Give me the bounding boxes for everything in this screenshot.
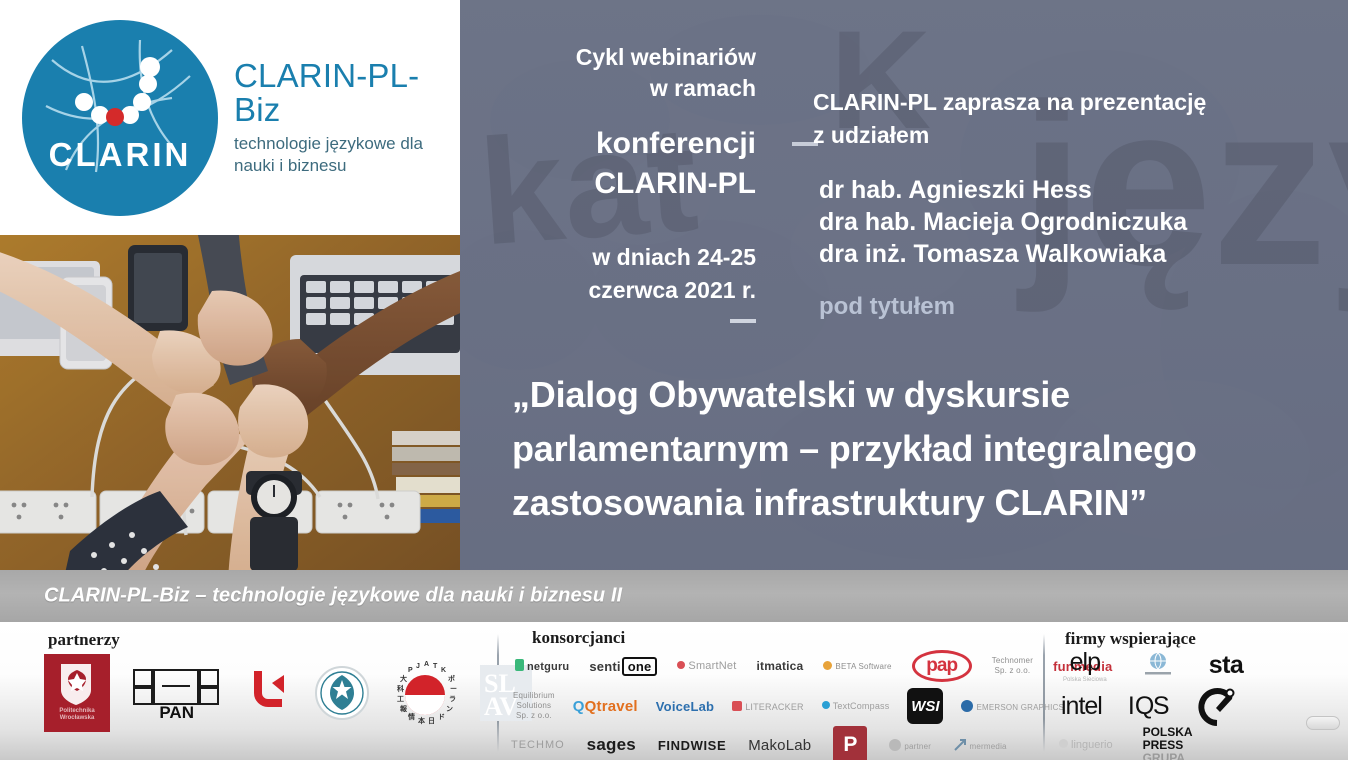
svg-text:科: 科	[397, 684, 404, 693]
slide-main-panel: kat K języK Cykl webinariów w ramach kon…	[460, 0, 1348, 570]
partners-group: partnerzy Politechnika Wrocławska	[0, 622, 497, 760]
divider-dash-bottom	[730, 319, 756, 323]
svg-text:J: J	[416, 663, 420, 670]
speakers-list: dr hab. Agnieszki Hess dra hab. Macieja …	[813, 174, 1313, 271]
conference-info-column: Cykl webinariów w ramach konferencji CLA…	[498, 42, 756, 323]
beta-software-logo: BETA Software	[823, 661, 891, 672]
svg-text:T: T	[433, 663, 438, 670]
technomer-logo: Technomer Sp. z o.o.	[992, 656, 1033, 676]
itmatica-logo: itmatica	[756, 659, 803, 673]
uniwersytet-wroclawski-logo	[314, 665, 370, 721]
ipi-pan-logo	[248, 667, 292, 719]
svg-text:K: K	[441, 667, 446, 674]
pjatk-logo: PJA TK ポーラ ンド日 本情報 工科大	[392, 659, 458, 727]
wsi-logo: WSI	[907, 688, 943, 724]
clarin-logo-block: CLARIN CLARIN-PL-Biz technologie językow…	[0, 0, 460, 235]
supporting-row-1: elp Polska Sieciowa sta	[1063, 648, 1243, 683]
partners-logos-row: Politechnika Wrocławska PAN	[44, 654, 532, 732]
p-logo: P	[833, 726, 867, 760]
sta-logo: sta	[1209, 651, 1244, 680]
speaker-name-1: dr hab. Agnieszki Hess	[819, 174, 1313, 206]
partners-heading: partnerzy	[48, 630, 120, 650]
video-control-pill[interactable]	[1306, 716, 1340, 730]
globe-logo	[1143, 651, 1173, 680]
supporting-companies-group: firmy wspierające elp Polska Sieciowa st…	[1045, 622, 1348, 760]
presentation-title-line2: parlamentarnym – przykład integralnego	[512, 422, 1312, 476]
makolab-logo: MakoLab	[748, 737, 811, 754]
consortium-row-1: netguru sentione SmartNet itmatica BETA …	[515, 650, 1112, 682]
svg-text:CLARIN: CLARIN	[49, 136, 192, 173]
logo-subtitle-line1: technologie językowe dla	[234, 133, 460, 155]
supporting-heading: firmy wspierające	[1065, 629, 1196, 649]
smartnet-logo: SmartNet	[677, 660, 736, 672]
techmo-logo: TECHMO	[511, 739, 565, 751]
voicelab-logo: VoiceLab	[656, 699, 714, 714]
qtravel-logo: QQtravel	[573, 698, 638, 715]
literacker-logo: LITERACKER	[732, 701, 804, 712]
supporting-row-3: linguerio POLSKA PRESS GRUPA	[1059, 726, 1193, 760]
consortium-group: konsorcjanci netguru sentione SmartNet i…	[499, 622, 1043, 760]
conference-dates-line2: czerwca 2021 r.	[498, 275, 756, 306]
sages-logo: sages	[587, 735, 636, 755]
pan-logo-text: PAN	[159, 703, 194, 722]
mermedia-logo: mermedia	[953, 738, 1007, 752]
webinar-series-line1: Cykl webinariów	[498, 42, 756, 73]
conference-label: konferencji	[498, 125, 756, 163]
consortium-heading: konsorcjanci	[532, 628, 625, 648]
svg-text:ド: ド	[438, 713, 445, 721]
consortium-row-3: TECHMO sages FINDWISE MakoLab P partner …	[511, 726, 1007, 760]
partner-grey-logo: partner	[889, 739, 931, 751]
findwise-logo: FINDWISE	[658, 738, 726, 753]
svg-text:ラ: ラ	[449, 695, 456, 703]
pan-logo: PAN	[132, 664, 226, 722]
left-column: CLARIN CLARIN-PL-Biz technologie językow…	[0, 0, 460, 570]
linguistic-logo: linguerio	[1059, 739, 1113, 751]
svg-text:本: 本	[417, 716, 425, 725]
intel-logo: intel	[1061, 692, 1102, 721]
clarin-logo-wordmark: CLARIN-PL-Biz technologie językowe dla n…	[234, 59, 460, 177]
project-banner: CLARIN-PL-Biz – technologie językowe dla…	[0, 570, 1348, 622]
polska-press-grupa-logo: POLSKA PRESS GRUPA	[1143, 726, 1193, 760]
webinar-series-line2: w ramach	[498, 73, 756, 104]
logo-title: CLARIN-PL-Biz	[234, 59, 460, 128]
teamwork-photo	[0, 235, 460, 570]
svg-text:P: P	[408, 667, 413, 674]
project-banner-text: CLARIN-PL-Biz – technologie językowe dla…	[44, 585, 622, 608]
elp-logo: elp Polska Sieciowa	[1063, 648, 1107, 683]
invitation-line1: CLARIN-PL zaprasza na prezentację	[813, 86, 1313, 119]
svg-text:ポ: ポ	[448, 674, 455, 683]
svg-text:ン: ン	[446, 705, 453, 713]
presentation-slide: CLARIN CLARIN-PL-Biz technologie językow…	[0, 0, 1348, 760]
invitation-line2: z udziałem	[813, 119, 1313, 152]
rocket-logo	[1196, 684, 1238, 729]
svg-text:ー: ー	[450, 686, 457, 693]
svg-text:日: 日	[428, 717, 435, 725]
textcompass-logo: TextCompass	[822, 701, 890, 711]
logo-subtitle-line2: nauki i biznesu	[234, 155, 460, 177]
speaker-name-3: dra inż. Tomasza Walkowiaka	[819, 238, 1313, 270]
consortium-row-2: Equilibrium Solutions Sp. z o.o. QQtrave…	[513, 688, 1064, 724]
pap-logo: pap	[912, 650, 972, 682]
svg-text:報: 報	[400, 704, 408, 713]
supporting-row-2: intel IQS	[1061, 684, 1238, 729]
svg-text:工: 工	[397, 695, 404, 703]
iqs-logo: IQS	[1128, 692, 1170, 721]
politechnika-wroclawska-caption: Politechnika Wrocławska	[44, 708, 110, 721]
presentation-title-line3: zastosowania infrastruktury CLARIN”	[512, 476, 1312, 530]
clarin-circle-logo-icon: CLARIN	[22, 20, 218, 216]
speaker-name-2: dra hab. Macieja Ogrodniczuka	[819, 206, 1313, 238]
logo-subtitle: technologie językowe dla nauki i biznesu	[234, 133, 460, 177]
svg-text:A: A	[424, 661, 429, 668]
svg-text:大: 大	[400, 674, 407, 683]
politechnika-wroclawska-logo: Politechnika Wrocławska	[44, 654, 110, 732]
svg-text:情: 情	[408, 712, 415, 721]
under-title-label: pod tytułem	[813, 293, 1313, 321]
netguru-logo: netguru	[515, 659, 569, 673]
speakers-column: CLARIN-PL zaprasza na prezentację z udzi…	[813, 86, 1313, 321]
equilibrium-solutions-logo: Equilibrium Solutions Sp. z o.o.	[513, 691, 555, 721]
conference-dates-line1: w dniach 24-25	[498, 242, 756, 273]
conference-name: CLARIN-PL	[498, 165, 756, 203]
sentione-logo: sentione	[589, 657, 657, 676]
presentation-title-line1: „Dialog Obywatelski w dyskursie	[512, 368, 1312, 422]
presentation-title: „Dialog Obywatelski w dyskursie parlamen…	[512, 368, 1312, 530]
sponsors-footer: partnerzy Politechnika Wrocławska	[0, 622, 1348, 760]
